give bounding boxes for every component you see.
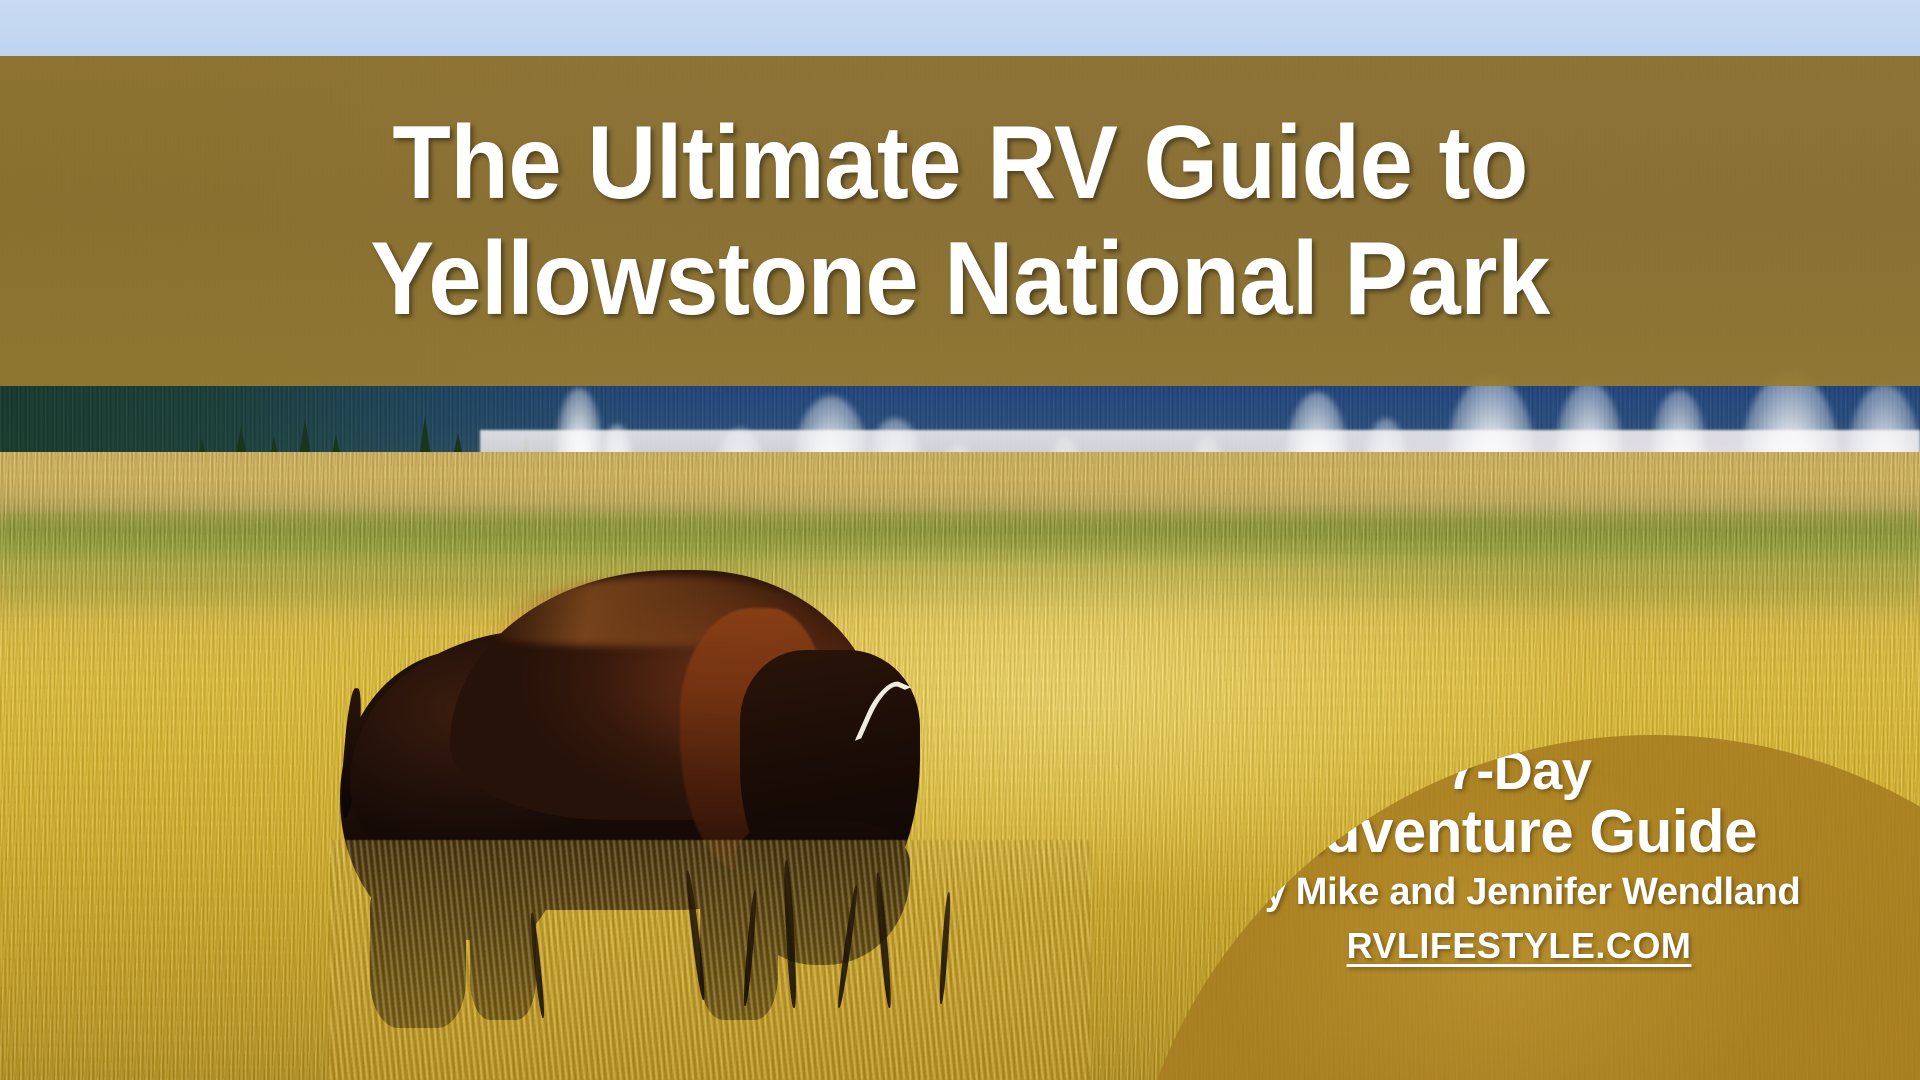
badge-duration-label: 7-Day <box>1124 743 1914 800</box>
adventure-guide-badge: 7-Day Adventure Guide By Mike and Jennif… <box>1124 735 1920 1080</box>
title-banner: The Ultimate RV Guide to Yellowstone Nat… <box>0 56 1920 386</box>
badge-text-block: 7-Day Adventure Guide By Mike and Jennif… <box>1124 735 1914 969</box>
poster-canvas: The Ultimate RV Guide to Yellowstone Nat… <box>0 0 1920 1080</box>
badge-subtitle: Adventure Guide <box>1124 800 1914 865</box>
badge-website-link[interactable]: RVLIFESTYLE.COM <box>1124 923 1914 970</box>
poster-title-line-1: The Ultimate RV Guide to <box>392 105 1527 221</box>
poster-title-line-2: Yellowstone National Park <box>370 221 1550 337</box>
badge-byline: By Mike and Jennifer Wendland <box>1124 869 1914 917</box>
sky-region <box>0 0 1920 56</box>
foreground-grass <box>330 840 1090 1080</box>
